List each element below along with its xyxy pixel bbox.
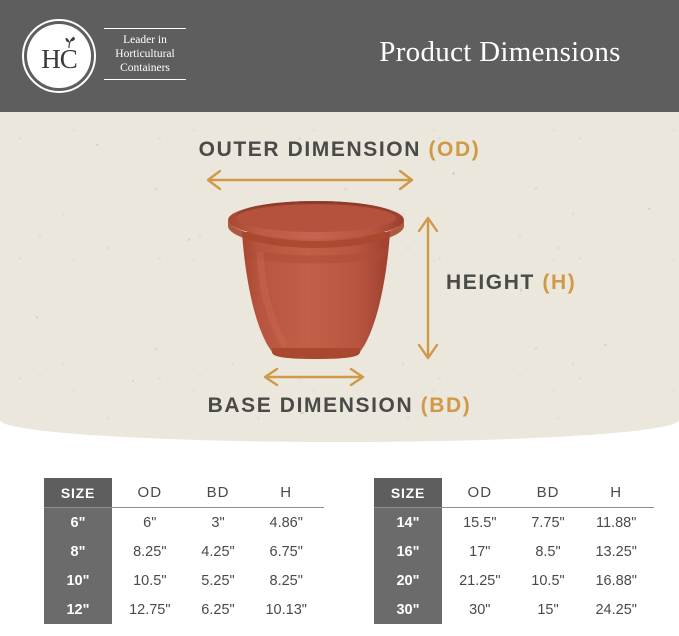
cell-h: 11.88" xyxy=(578,508,654,538)
cell-bd: 5.25" xyxy=(188,566,249,595)
cell-size: 16" xyxy=(374,537,442,566)
table-row: 8"8.25"4.25"6.75" xyxy=(44,537,324,566)
base-dimension-text: BASE DIMENSION xyxy=(208,394,414,417)
cell-bd: 10.5" xyxy=(518,566,579,595)
cell-bd: 15" xyxy=(518,595,579,624)
cell-bd: 4.25" xyxy=(188,537,249,566)
cell-bd: 6.25" xyxy=(188,595,249,624)
page-title: Product Dimensions xyxy=(340,36,660,69)
table-row: 16"17"8.5"13.25" xyxy=(374,537,654,566)
table-header-row: SIZEODBDH xyxy=(44,478,324,508)
table-row: 12"12.75"6.25"10.13" xyxy=(44,595,324,624)
cell-bd: 8.5" xyxy=(518,537,579,566)
table-row: 6"6"3"4.86" xyxy=(44,508,324,538)
cell-size: 10" xyxy=(44,566,112,595)
cell-h: 6.75" xyxy=(248,537,324,566)
cell-od: 6" xyxy=(112,508,188,538)
column-header-bd: BD xyxy=(518,478,579,508)
table-row: 30"30"15"24.25" xyxy=(374,595,654,624)
column-header-size: SIZE xyxy=(374,478,442,508)
cell-od: 17" xyxy=(442,537,518,566)
cell-size: 14" xyxy=(374,508,442,538)
tagline-line-1: Leader in xyxy=(100,33,190,47)
column-header-od: OD xyxy=(112,478,188,508)
cell-h: 10.13" xyxy=(248,595,324,624)
cell-h: 13.25" xyxy=(578,537,654,566)
table-header-row: SIZEODBDH xyxy=(374,478,654,508)
cell-h: 24.25" xyxy=(578,595,654,624)
outer-dimension-arrow xyxy=(200,168,420,192)
dimension-table: SIZEODBDH 6"6"3"4.86"8"8.25"4.25"6.75"10… xyxy=(44,478,324,624)
cell-size: 30" xyxy=(374,595,442,624)
table-body: 14"15.5"7.75"11.88"16"17"8.5"13.25"20"21… xyxy=(374,508,654,625)
outer-dimension-label: OUTER DIMENSION (OD) xyxy=(0,138,679,162)
tagline-rule-top xyxy=(104,28,186,29)
cell-size: 6" xyxy=(44,508,112,538)
tagline-line-3: Containers xyxy=(100,61,190,75)
cell-od: 12.75" xyxy=(112,595,188,624)
outer-dimension-text: OUTER DIMENSION xyxy=(199,138,421,161)
cell-size: 20" xyxy=(374,566,442,595)
height-label: HEIGHT (H) xyxy=(446,271,576,295)
height-tag: (H) xyxy=(542,271,576,294)
base-dimension-label: BASE DIMENSION (BD) xyxy=(0,394,679,418)
column-header-size: SIZE xyxy=(44,478,112,508)
base-dimension-tag: (BD) xyxy=(421,394,472,417)
cell-od: 30" xyxy=(442,595,518,624)
cell-h: 16.88" xyxy=(578,566,654,595)
cell-od: 15.5" xyxy=(442,508,518,538)
column-header-od: OD xyxy=(442,478,518,508)
logo-monogram: HC xyxy=(27,24,91,88)
size-table-large: SIZEODBDH 14"15.5"7.75"11.88"16"17"8.5"1… xyxy=(374,478,654,624)
pot-rim-lip xyxy=(236,204,396,232)
brand-tagline: Leader in Horticultural Containers xyxy=(100,28,190,80)
column-header-h: H xyxy=(578,478,654,508)
cell-size: 8" xyxy=(44,537,112,566)
brand-logo: HC xyxy=(22,19,98,95)
dimension-table: SIZEODBDH 14"15.5"7.75"11.88"16"17"8.5"1… xyxy=(374,478,654,624)
cell-bd: 3" xyxy=(188,508,249,538)
leaf-sprout-icon xyxy=(60,35,78,49)
column-header-h: H xyxy=(248,478,324,508)
size-table-small: SIZEODBDH 6"6"3"4.86"8"8.25"4.25"6.75"10… xyxy=(44,478,324,624)
tagline-line-2: Horticultural xyxy=(100,47,190,61)
height-text: HEIGHT xyxy=(446,271,535,294)
product-dimensions-infographic: HC Leader in Horticultural Containers Pr… xyxy=(0,0,679,636)
table-row: 14"15.5"7.75"11.88" xyxy=(374,508,654,538)
base-dimension-arrow xyxy=(258,366,370,388)
cell-od: 21.25" xyxy=(442,566,518,595)
cell-od: 8.25" xyxy=(112,537,188,566)
cell-h: 8.25" xyxy=(248,566,324,595)
column-header-bd: BD xyxy=(188,478,249,508)
cell-bd: 7.75" xyxy=(518,508,579,538)
pot-base xyxy=(272,348,360,359)
table-row: 20"21.25"10.5"16.88" xyxy=(374,566,654,595)
outer-dimension-tag: (OD) xyxy=(428,138,480,161)
cell-od: 10.5" xyxy=(112,566,188,595)
table-body: 6"6"3"4.86"8"8.25"4.25"6.75"10"10.5"5.25… xyxy=(44,508,324,625)
header-bar: HC Leader in Horticultural Containers Pr… xyxy=(0,0,679,112)
tagline-rule-bottom xyxy=(104,79,186,80)
cell-h: 4.86" xyxy=(248,508,324,538)
height-arrow xyxy=(415,210,441,366)
cell-size: 12" xyxy=(44,595,112,624)
plant-pot-illustration xyxy=(216,196,416,368)
table-row: 10"10.5"5.25"8.25" xyxy=(44,566,324,595)
